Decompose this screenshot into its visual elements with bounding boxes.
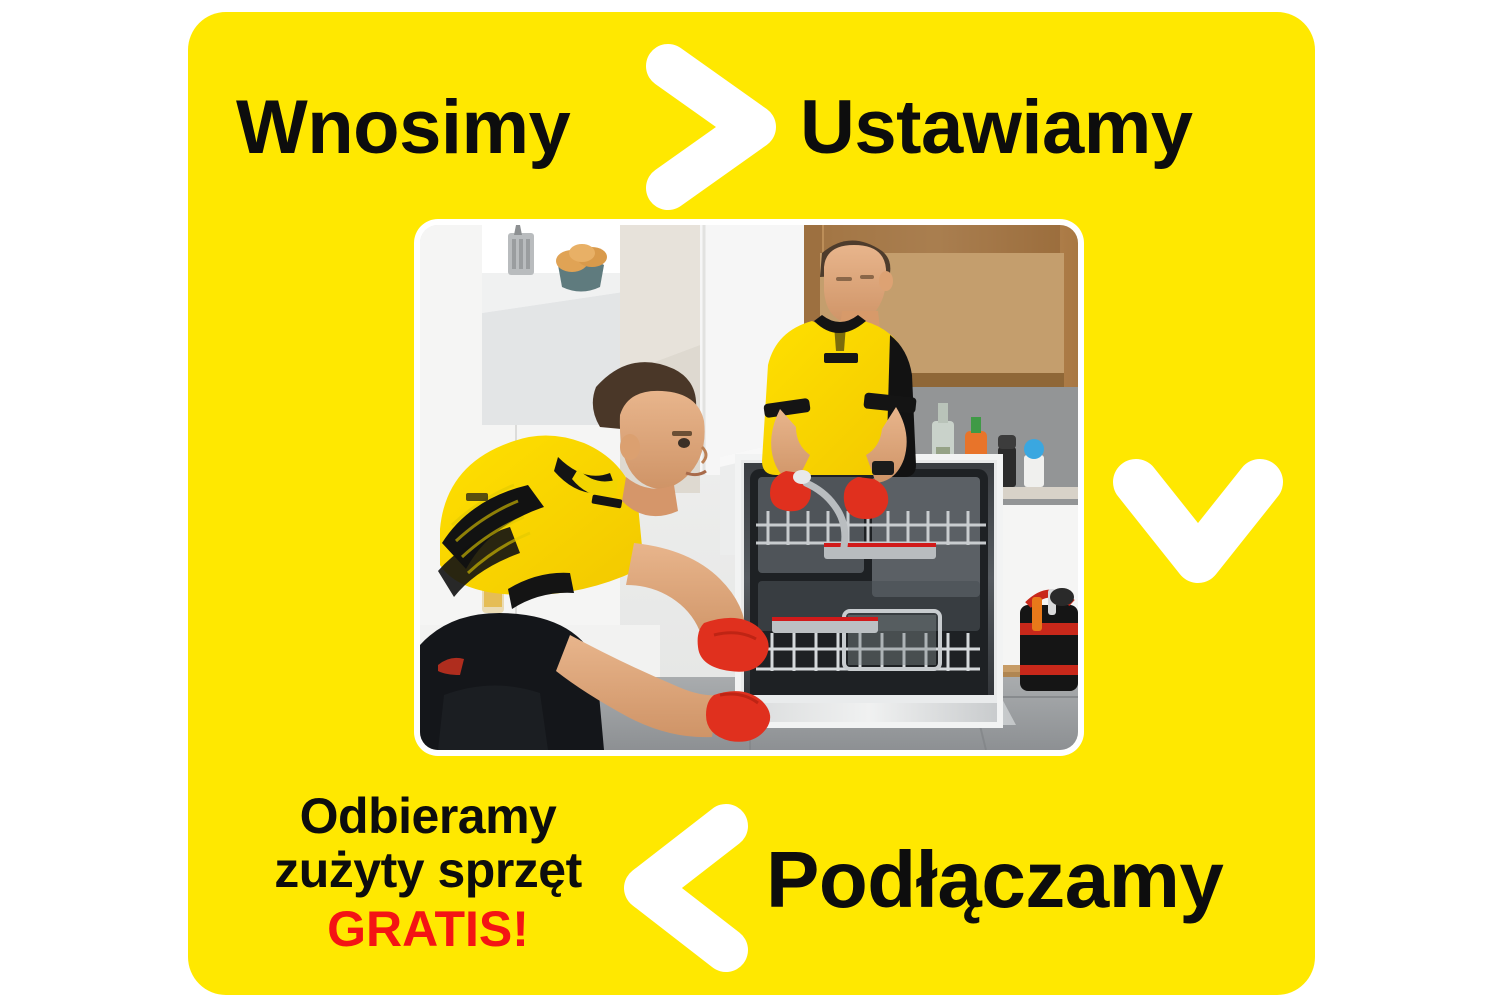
takeaway-line-2: zużyty sprzęt [218, 844, 638, 898]
chevron-left-icon [616, 800, 756, 975]
tool-bag [1020, 588, 1078, 691]
chevron-right-icon [636, 42, 786, 212]
promo-banner: Wnosimy Ustawiamy Podłączamy Odbieramy z… [0, 0, 1500, 1007]
takeaway-offer-block: Odbieramy zużyty sprzęt GRATIS! [218, 790, 638, 957]
step-label-wnosimy: Wnosimy [236, 90, 570, 166]
takeaway-line-1: Odbieramy [218, 790, 638, 844]
installation-photo [420, 225, 1078, 750]
photo-illustration [420, 225, 1078, 750]
step-label-podlaczamy: Podłączamy [766, 840, 1223, 920]
takeaway-gratis-label: GRATIS! [218, 903, 638, 957]
step-label-ustawiamy: Ustawiamy [800, 90, 1193, 166]
promo-card: Wnosimy Ustawiamy Podłączamy Odbieramy z… [188, 12, 1315, 995]
chevron-down-icon [1108, 442, 1288, 607]
